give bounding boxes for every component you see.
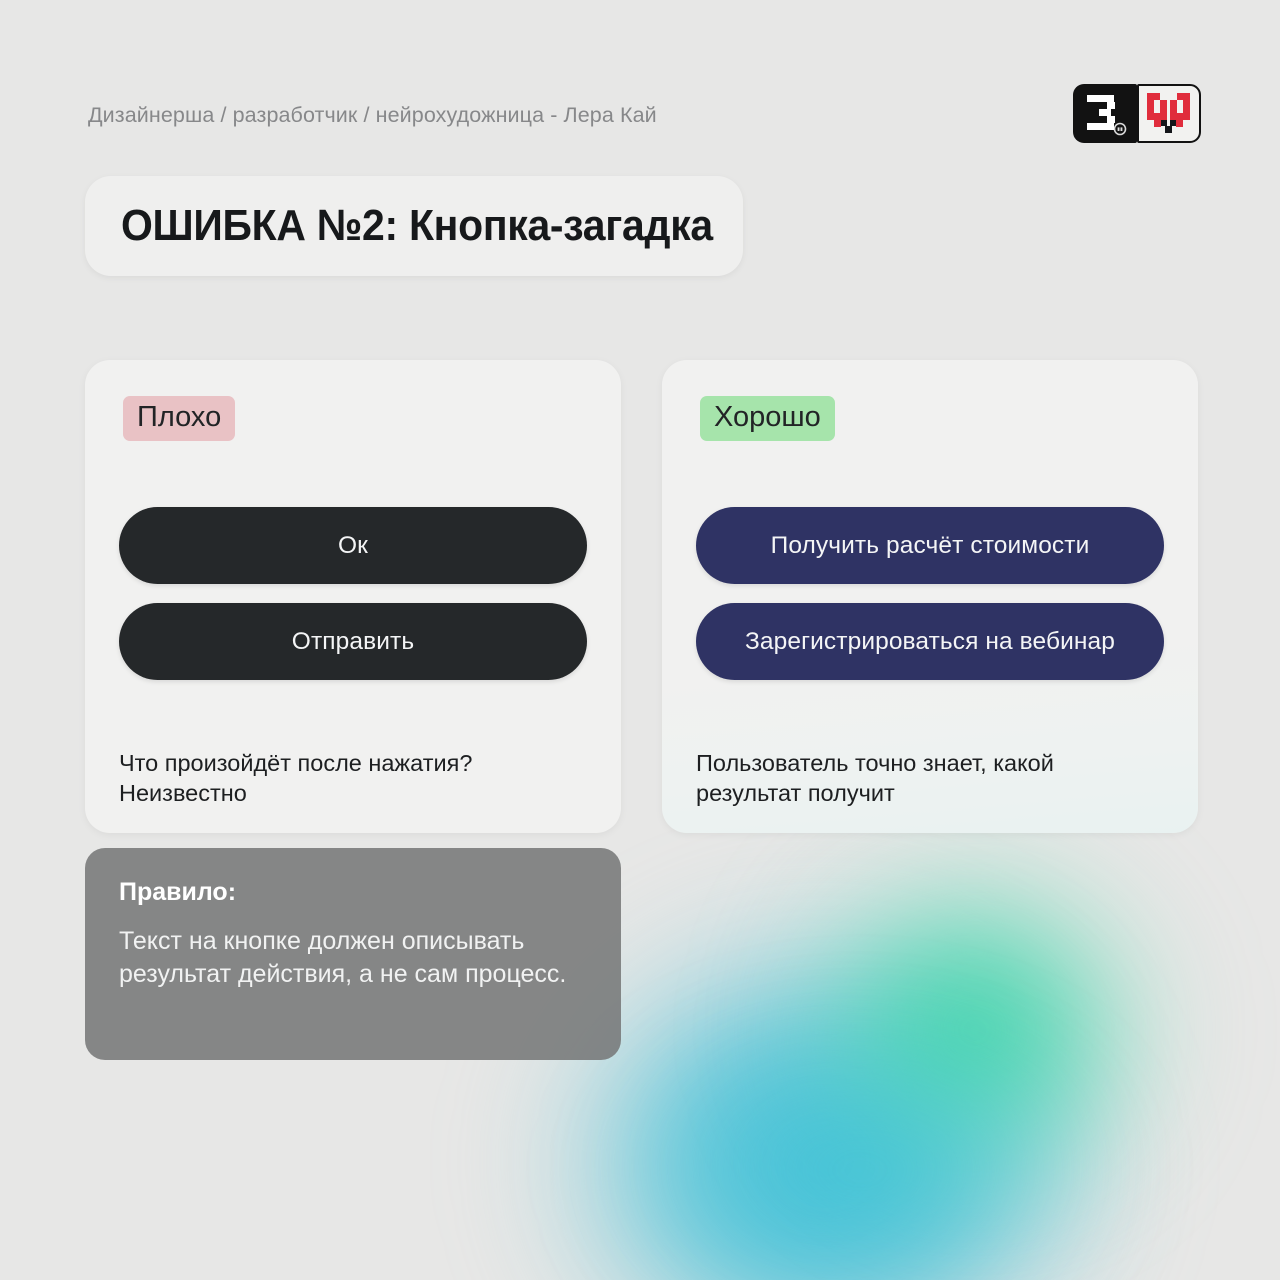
brand-logo [1073,84,1201,143]
glow-green-blob [760,830,1190,1230]
bad-button-ok[interactable]: Ок [119,507,587,584]
good-button-register-webinar[interactable]: Зарегистрироваться на вебинар [696,603,1164,680]
title-banner: ОШИБКА №2: Кнопка-загадка [85,176,743,276]
badge-bad: Плохо [123,396,235,441]
glow-teal-blob [600,1020,1120,1280]
card-bad-example: Плохо Ок Отправить Что произойдёт после … [85,360,621,833]
rule-body: Текст на кнопке должен описывать результ… [119,925,589,992]
pixel-three-svg [1073,84,1137,143]
author-byline: Дизайнерша / разработчик / нейрохудожниц… [88,103,657,128]
rule-callout: Правило: Текст на кнопке должен описыват… [85,848,621,1060]
rule-title: Правило: [119,878,236,907]
good-caption: Пользователь точно знает, какой результа… [696,748,1146,808]
bad-button-submit[interactable]: Отправить [119,603,587,680]
pixel-heart-svg [1139,86,1199,141]
good-button-get-estimate[interactable]: Получить расчёт стоимости [696,507,1164,584]
card-good-example: Хорошо Получить расчёт стоимости Зарегис… [662,360,1198,833]
logo-pixel-heart-icon [1137,84,1201,143]
page-title: ОШИБКА №2: Кнопка-загадка [121,201,713,251]
slide-canvas: Дизайнерша / разработчик / нейрохудожниц… [0,0,1280,1280]
logo-digit-three-icon [1073,84,1137,143]
bad-caption: Что произойдёт после нажатия? Неизвестно [119,748,569,808]
badge-good: Хорошо [700,396,835,441]
